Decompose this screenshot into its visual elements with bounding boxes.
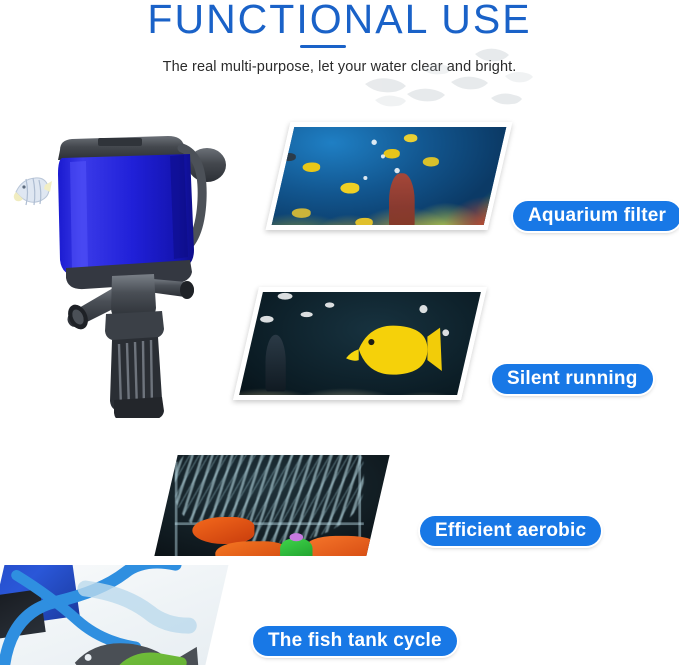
feature-badge-efficient-aerobic[interactable]: Efficient aerobic xyxy=(420,516,601,546)
feature-photo-silent-running xyxy=(233,287,487,400)
feature-photo-aquarium-filter xyxy=(266,122,513,230)
functional-use-banner: FUNCTIONAL USE The real multi-purpose, l… xyxy=(0,0,679,665)
fish-school-watermark-icon xyxy=(355,38,545,108)
page-subtitle: The real multi-purpose, let your water c… xyxy=(0,59,679,75)
page-title: FUNCTIONAL USE xyxy=(0,0,679,42)
title-divider xyxy=(300,45,346,48)
feature-badge-fish-tank-cycle[interactable]: The fish tank cycle xyxy=(253,626,457,656)
feature-badge-aquarium-filter[interactable]: Aquarium filter xyxy=(513,201,679,231)
feature-photo-fish-tank-cycle xyxy=(0,565,228,665)
feature-photo-efficient-aerobic xyxy=(154,455,389,556)
feature-badge-silent-running[interactable]: Silent running xyxy=(492,364,653,394)
aquarium-pump-product-image xyxy=(20,118,240,418)
